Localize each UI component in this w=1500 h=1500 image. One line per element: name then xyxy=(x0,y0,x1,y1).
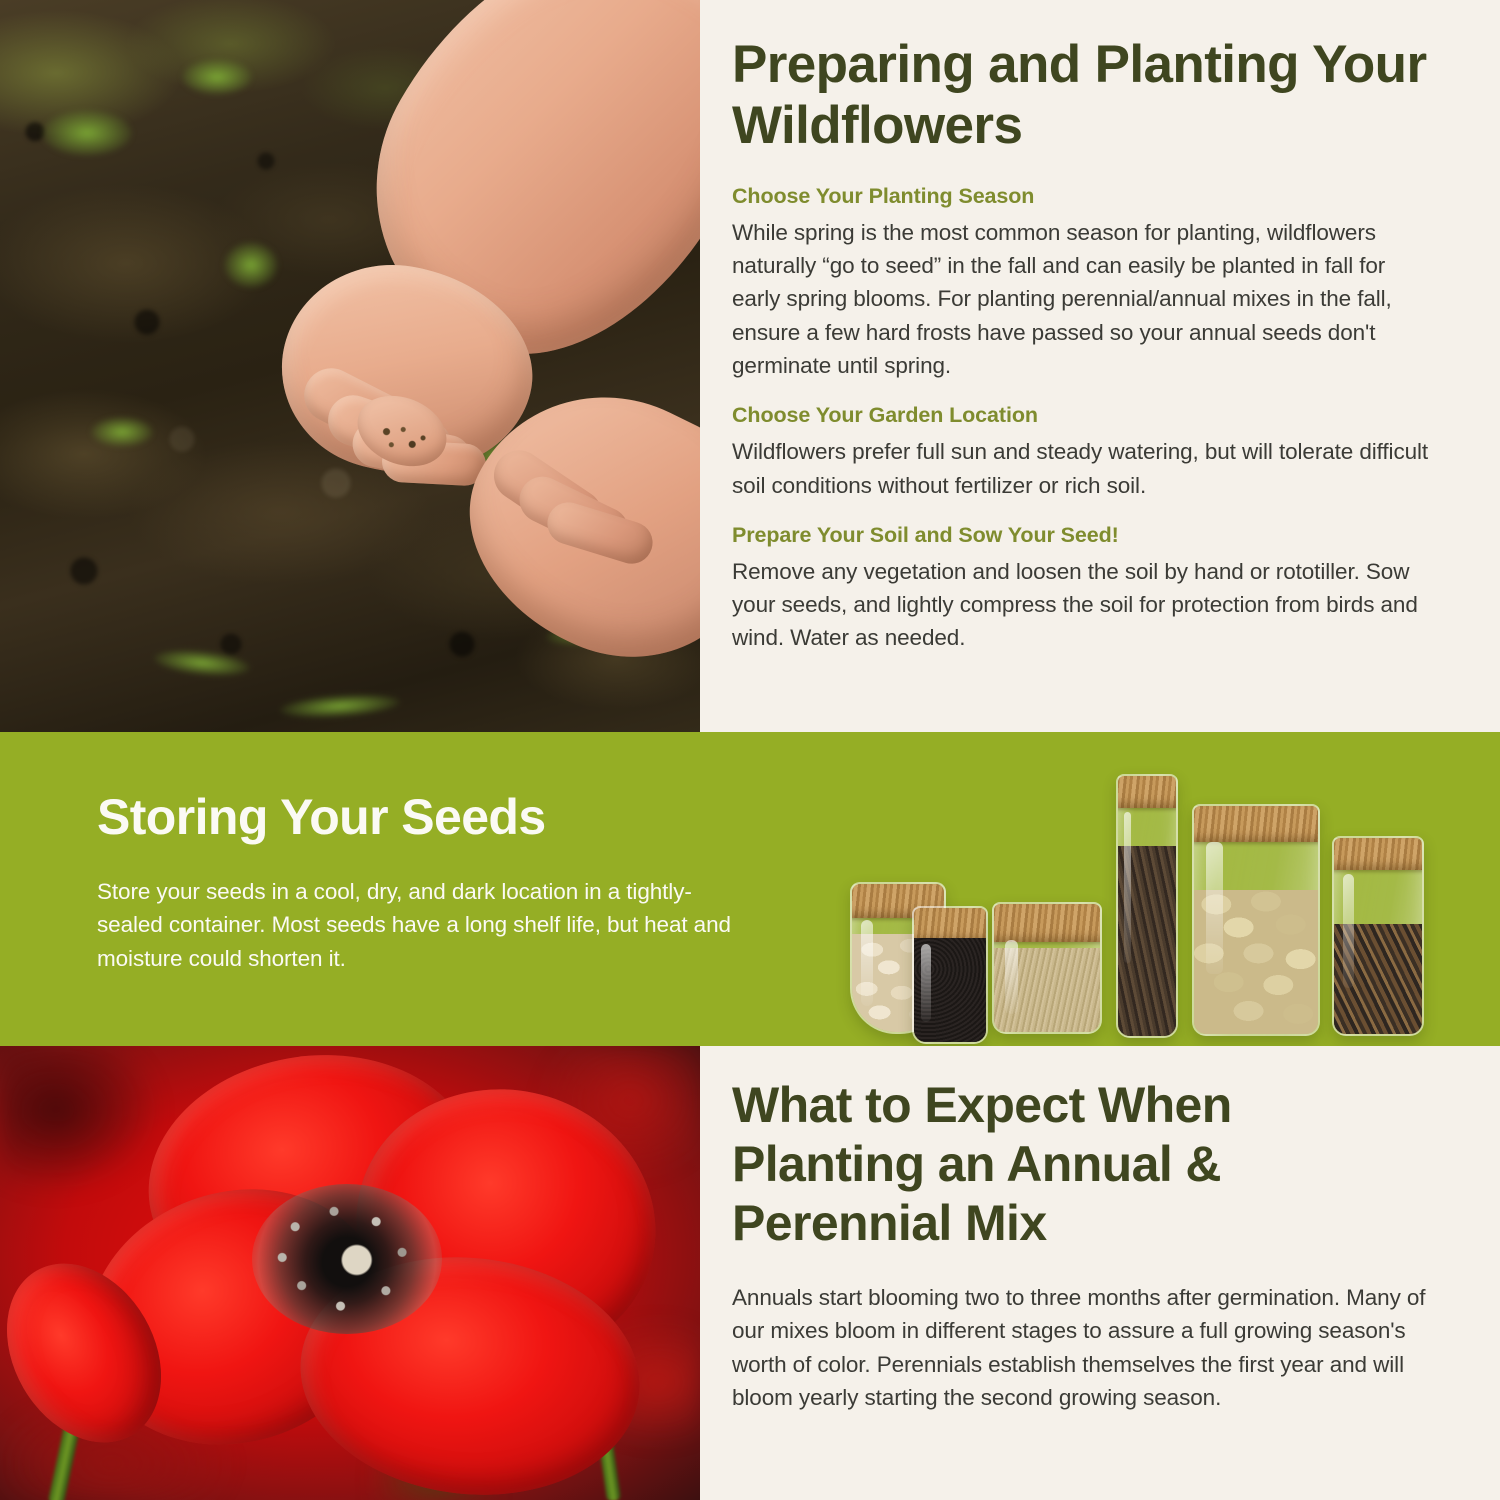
glass-glare xyxy=(1124,812,1132,963)
band-text-panel: Storing Your Seeds Store your seeds in a… xyxy=(97,790,747,975)
cork-lid-icon xyxy=(1116,776,1178,808)
subheading-planting-season: Choose Your Planting Season xyxy=(732,183,1430,211)
red-poppy-photo xyxy=(0,1046,700,1500)
cork-lid-icon xyxy=(1332,838,1424,870)
top-text-panel: Preparing and Planting Your Wildflowers … xyxy=(700,0,1500,732)
glass-glare xyxy=(861,920,873,1006)
dark-seeds-tube-jar xyxy=(1116,774,1178,1038)
bottom-text-panel: What to Expect When Planting an Annual &… xyxy=(700,1046,1500,1500)
glass-glare xyxy=(921,944,930,1022)
glass-glare xyxy=(1343,874,1354,988)
poppy-stamens xyxy=(266,1196,428,1324)
mixed-seeds-jar xyxy=(1332,836,1424,1036)
glass-glare xyxy=(1206,842,1222,974)
cork-lid-icon xyxy=(1192,806,1320,842)
section-what-to-expect: What to Expect When Planting an Annual &… xyxy=(0,1046,1500,1500)
body-planting-season: While spring is the most common season f… xyxy=(732,216,1430,382)
section-storing-seeds: Storing Your Seeds Store your seeds in a… xyxy=(0,732,1500,1046)
cork-lid-icon xyxy=(992,904,1102,942)
block-planting-season: Choose Your Planting Season While spring… xyxy=(732,183,1430,382)
block-garden-location: Choose Your Garden Location Wildflowers … xyxy=(732,402,1430,502)
glass-glare xyxy=(1005,940,1019,1014)
page-title: Preparing and Planting Your Wildflowers xyxy=(732,34,1430,157)
infographic-page: Preparing and Planting Your Wildflowers … xyxy=(0,0,1500,1500)
block-prepare-soil: Prepare Your Soil and Sow Your Seed! Rem… xyxy=(732,522,1430,655)
body-prepare-soil: Remove any vegetation and loosen the soi… xyxy=(732,555,1430,655)
sprout-icon xyxy=(224,242,278,288)
cork-lid-icon xyxy=(912,908,988,942)
storing-seeds-title: Storing Your Seeds xyxy=(97,790,747,845)
subheading-prepare-soil: Prepare Your Soil and Sow Your Seed! xyxy=(732,522,1430,550)
sprout-icon xyxy=(42,110,132,156)
pumpkin-seeds-jar xyxy=(1192,804,1320,1036)
hands-sowing-seeds-photo xyxy=(0,0,700,732)
storing-seeds-body: Store your seeds in a cool, dry, and dar… xyxy=(97,875,747,975)
sprout-icon xyxy=(182,59,252,95)
black-seeds-jar xyxy=(912,906,988,1044)
what-to-expect-title: What to Expect When Planting an Annual &… xyxy=(732,1076,1430,1253)
section-preparing-planting: Preparing and Planting Your Wildflowers … xyxy=(0,0,1500,732)
sand-seeds-jar xyxy=(992,902,1102,1034)
body-garden-location: Wildflowers prefer full sun and steady w… xyxy=(732,435,1430,502)
subheading-garden-location: Choose Your Garden Location xyxy=(732,402,1430,430)
what-to-expect-body: Annuals start blooming two to three mont… xyxy=(732,1281,1430,1414)
seed-jars-photo xyxy=(840,750,1460,1046)
